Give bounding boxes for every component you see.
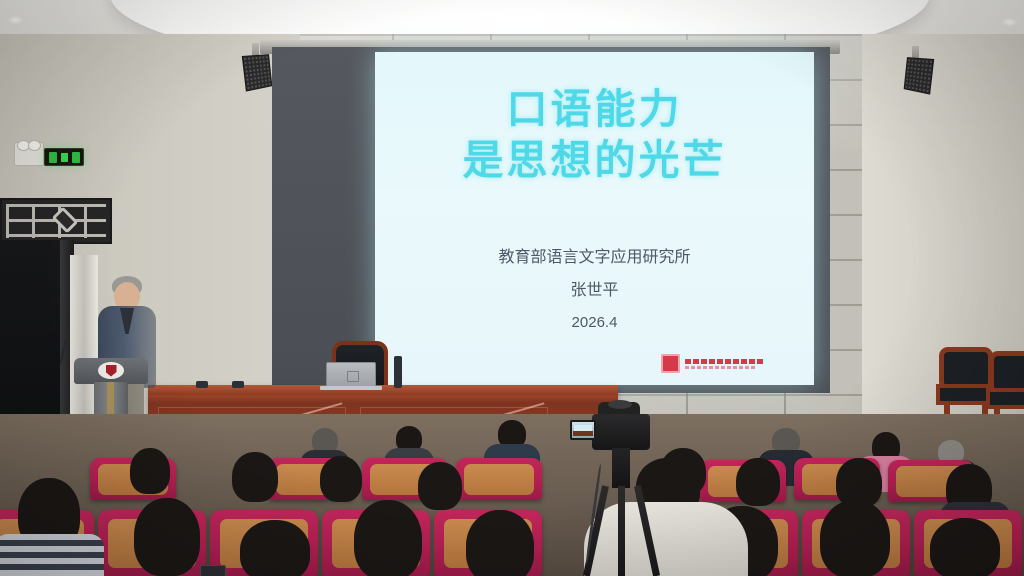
crest-icon	[106, 365, 117, 377]
projection-screen: 口语能力 是思想的光芒 教育部语言文字应用研究所 张世平 2026.4	[375, 52, 814, 385]
audience-head	[130, 448, 170, 494]
downlight-3	[8, 16, 23, 24]
wall-speaker-right	[904, 57, 935, 94]
audience-head	[134, 498, 200, 576]
laptop-lid[interactable]	[326, 362, 376, 387]
logo-wordmark-line-2	[685, 366, 755, 369]
audience-head	[736, 458, 780, 506]
camera-lcd-screen[interactable]	[570, 420, 596, 440]
chair-seat	[990, 392, 1024, 405]
logo-wordmark-line-1	[685, 359, 763, 364]
audience-head	[240, 520, 310, 576]
red-seal-icon	[661, 354, 680, 373]
audience-head	[466, 510, 534, 576]
audience-head	[820, 500, 890, 576]
chair-seat	[940, 388, 992, 401]
chair-back	[994, 356, 1024, 390]
slide-date: 2026.4	[375, 308, 814, 339]
slide-title: 口语能力 是思想的光芒	[375, 84, 814, 186]
emergency-light-fixture	[14, 142, 44, 166]
audience-head	[232, 452, 278, 502]
lattice-transom-window	[0, 198, 112, 244]
audience-area	[0, 414, 1024, 576]
exit-sign-left-glyph	[49, 152, 57, 163]
seat-pad	[464, 464, 535, 495]
audience-head	[354, 500, 422, 576]
slide-footer-logo	[661, 354, 763, 373]
downlight-6	[1002, 18, 1017, 26]
table-top-edge	[148, 385, 618, 395]
camera-lens-icon	[608, 400, 632, 409]
camera-body	[592, 414, 650, 450]
laptop-base[interactable]	[320, 386, 382, 390]
lattice-diamond-motif	[52, 207, 79, 234]
smartphone-on-seat[interactable]	[200, 565, 226, 576]
desk-monitor-edge	[394, 356, 402, 388]
audience-torso	[0, 534, 104, 576]
camera-tripod-head	[612, 448, 630, 488]
slide-title-line-2: 是思想的光芒	[375, 135, 814, 186]
chair-back	[944, 352, 988, 386]
audience-head	[418, 462, 462, 510]
emergency-exit-sign-icon	[44, 148, 84, 166]
exit-running-man-icon	[59, 151, 70, 164]
desk-microphone-2	[232, 381, 244, 388]
slide-title-line-1: 口语能力	[375, 84, 814, 135]
logo-wordmark	[685, 359, 763, 369]
audience-head	[320, 456, 362, 502]
slide-affiliation: 教育部语言文字应用研究所	[375, 242, 814, 275]
tripod-leg-center	[618, 486, 625, 576]
lecture-hall-photo: 口语能力 是思想的光芒 教育部语言文字应用研究所 张世平 2026.4	[0, 0, 1024, 576]
wall-speaker-left	[242, 54, 273, 91]
video-camera-rig	[568, 400, 678, 576]
podium-top	[74, 358, 148, 384]
slide-presenter: 张世平	[375, 275, 814, 308]
podium-emblem	[98, 362, 124, 379]
slide-subtitle-block: 教育部语言文字应用研究所 张世平 2026.4	[375, 242, 814, 338]
desk-microphone-1	[196, 381, 208, 388]
exit-sign-right-glyph	[72, 152, 80, 163]
audience-head	[930, 518, 1000, 576]
audience-seat[interactable]	[456, 458, 542, 500]
lcd-preview-table	[573, 431, 593, 436]
tripod-leg-right	[634, 485, 660, 576]
